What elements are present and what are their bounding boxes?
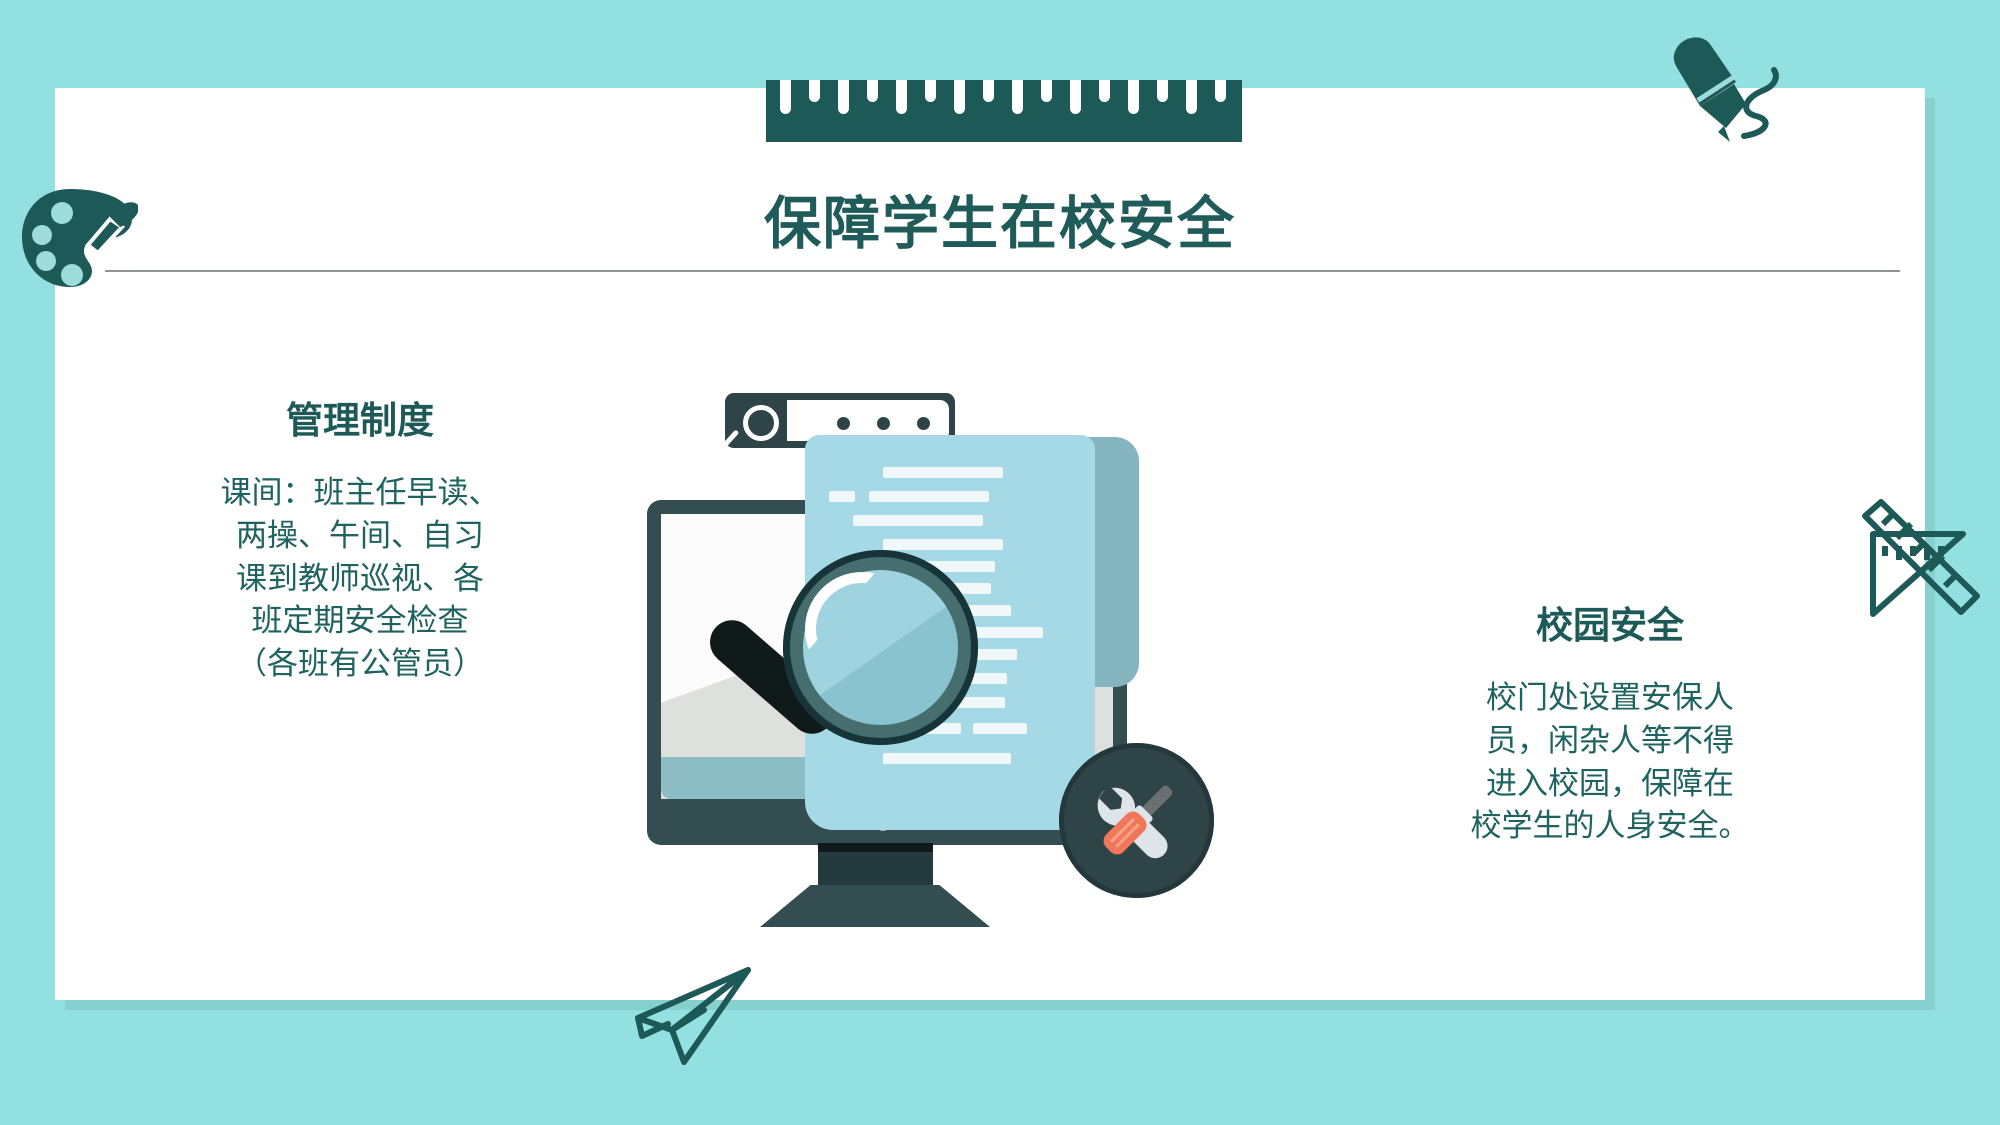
doc-line bbox=[883, 467, 1003, 478]
search-icon-handle bbox=[721, 429, 739, 449]
ruler-triangle-icon bbox=[1855, 498, 1983, 620]
doc-line bbox=[973, 723, 1027, 734]
screwdriver-icon bbox=[1087, 769, 1189, 871]
search-icon bbox=[743, 405, 779, 441]
block-heading: 管理制度 bbox=[170, 390, 550, 444]
ruler-tick bbox=[1070, 80, 1081, 114]
doc-line bbox=[853, 515, 983, 526]
title-divider bbox=[105, 270, 1900, 272]
text-block-campus-safety: 校园安全 校门处设置安保人 员，闲杂人等不得 进入校园，保障在 校学生的人身安全… bbox=[1440, 595, 1780, 848]
block-body: 校门处设置安保人 员，闲杂人等不得 进入校园，保障在 校学生的人身安全。 bbox=[1440, 677, 1780, 848]
slide-root: 保障学生在校安全 管理制度 课间：班主任早读、 两操、午间、自习 课到教师巡视、… bbox=[0, 0, 2000, 1125]
ruler-tick bbox=[1215, 80, 1226, 102]
ruler-tick bbox=[896, 80, 907, 114]
doc-line bbox=[829, 491, 855, 502]
ruler-tick bbox=[780, 80, 791, 114]
block-body: 课间：班主任早读、 两操、午间、自习 课到教师巡视、各 班定期安全检查 （各班有… bbox=[170, 472, 550, 686]
doc-line bbox=[869, 491, 989, 502]
document-inspection-illustration bbox=[655, 365, 1295, 925]
fountain-pen-icon bbox=[1672, 32, 1790, 160]
ruler-graphic bbox=[766, 80, 1242, 142]
ruler-tick bbox=[1186, 80, 1197, 114]
doc-line bbox=[883, 753, 1011, 764]
ruler-tick bbox=[1099, 80, 1110, 102]
ruler-tick bbox=[1128, 80, 1139, 114]
ruler-tick bbox=[983, 80, 994, 102]
ruler-tick bbox=[954, 80, 965, 114]
ruler-tick bbox=[1012, 80, 1023, 114]
text-block-management-system: 管理制度 课间：班主任早读、 两操、午间、自习 课到教师巡视、各 班定期安全检查… bbox=[170, 390, 550, 686]
search-dot bbox=[877, 417, 890, 430]
monitor-neck-top bbox=[818, 843, 933, 852]
block-heading: 校园安全 bbox=[1440, 595, 1780, 649]
ruler-tick bbox=[838, 80, 849, 114]
doc-line bbox=[883, 539, 1003, 550]
ruler-tick bbox=[1157, 80, 1168, 102]
tools-badge bbox=[1059, 743, 1214, 898]
paint-palette-icon bbox=[18, 183, 138, 295]
ruler-tick bbox=[809, 80, 820, 102]
monitor-base bbox=[760, 885, 990, 927]
search-dot bbox=[917, 417, 930, 430]
paper-plane-icon bbox=[628, 962, 756, 1074]
search-dot bbox=[837, 417, 850, 430]
magnifier-ring bbox=[783, 550, 978, 745]
ruler-tick bbox=[925, 80, 936, 102]
page-title: 保障学生在校安全 bbox=[0, 178, 2000, 260]
ruler-tick bbox=[1041, 80, 1052, 102]
ruler-tick bbox=[867, 80, 878, 102]
